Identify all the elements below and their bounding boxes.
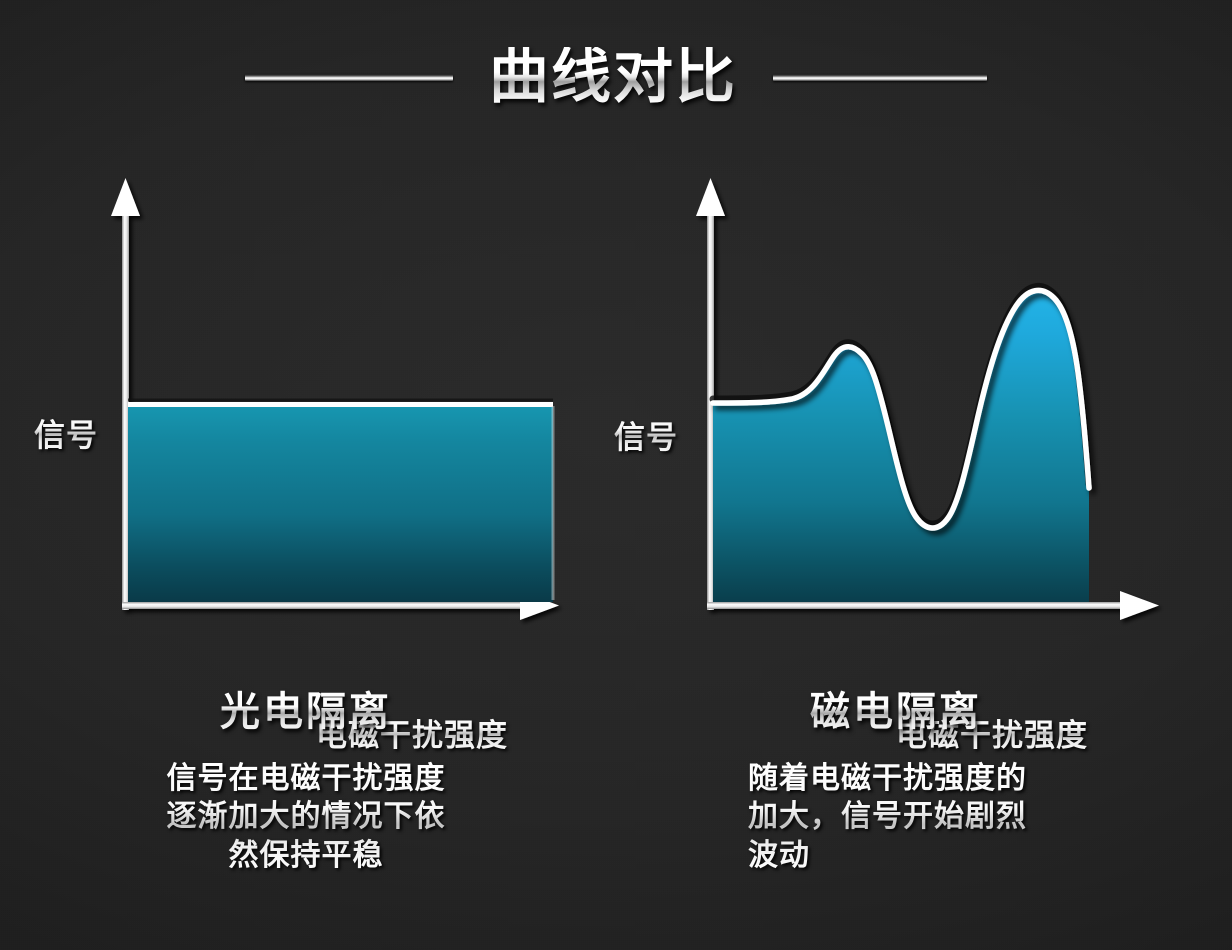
caption-optocoupler: 光电隔离 信号在电磁干扰强度 逐渐加大的情况下依 然保持平稳 — [6, 690, 606, 875]
title-bar: 曲线对比 — [0, 38, 1232, 116]
caption-desc-optocoupler: 信号在电磁干扰强度 逐渐加大的情况下依 然保持平稳 — [6, 760, 606, 875]
signal-area-flat — [128, 400, 553, 602]
y-axis-label-left: 信号 — [34, 410, 98, 455]
x-axis-arrow-icon — [1120, 591, 1159, 620]
caption-title-magnetic: 磁电隔离 — [596, 690, 1196, 734]
chart-magnetic: 信号 电磁干扰强度 — [596, 170, 1196, 640]
caption-magnetic: 磁电隔离 随着电磁干扰强度的 加大，信号开始剧烈 波动 — [596, 690, 1196, 875]
title-rule-left-icon — [245, 74, 453, 81]
y-axis-arrow-icon — [111, 178, 140, 216]
panel-optocoupler: 信号 电磁干扰强度 光电隔离 信号在电磁干扰强度 逐渐加大的情况下依 然保持平稳 — [6, 170, 606, 930]
x-axis-line — [707, 602, 1134, 609]
caption-line: 加大，信号开始剧烈 — [748, 798, 1196, 836]
y-axis-arrow-icon — [696, 178, 725, 216]
caption-line: 逐渐加大的情况下依 — [6, 798, 606, 836]
caption-line: 随着电磁干扰强度的 — [748, 760, 1196, 798]
x-axis-line — [122, 602, 534, 609]
caption-line: 然保持平稳 — [6, 837, 606, 875]
y-axis-line — [122, 198, 129, 610]
caption-title-optocoupler: 光电隔离 — [6, 690, 606, 734]
caption-line: 波动 — [748, 837, 1196, 875]
panel-magnetic: 信号 电磁干扰强度 磁电隔离 随着电磁干扰强度的 加大，信号开始剧烈 波动 — [596, 170, 1196, 930]
caption-line: 信号在电磁干扰强度 — [6, 760, 606, 798]
title-rule-right-icon — [773, 74, 987, 81]
signal-area-wave — [713, 286, 1089, 602]
slide-canvas: 曲线对比 — [0, 0, 1232, 950]
page-title: 曲线对比 — [489, 47, 737, 107]
chart-optocoupler: 信号 电磁干扰强度 — [6, 170, 606, 640]
caption-desc-magnetic: 随着电磁干扰强度的 加大，信号开始剧烈 波动 — [596, 760, 1196, 875]
y-axis-label-right: 信号 — [614, 412, 678, 457]
